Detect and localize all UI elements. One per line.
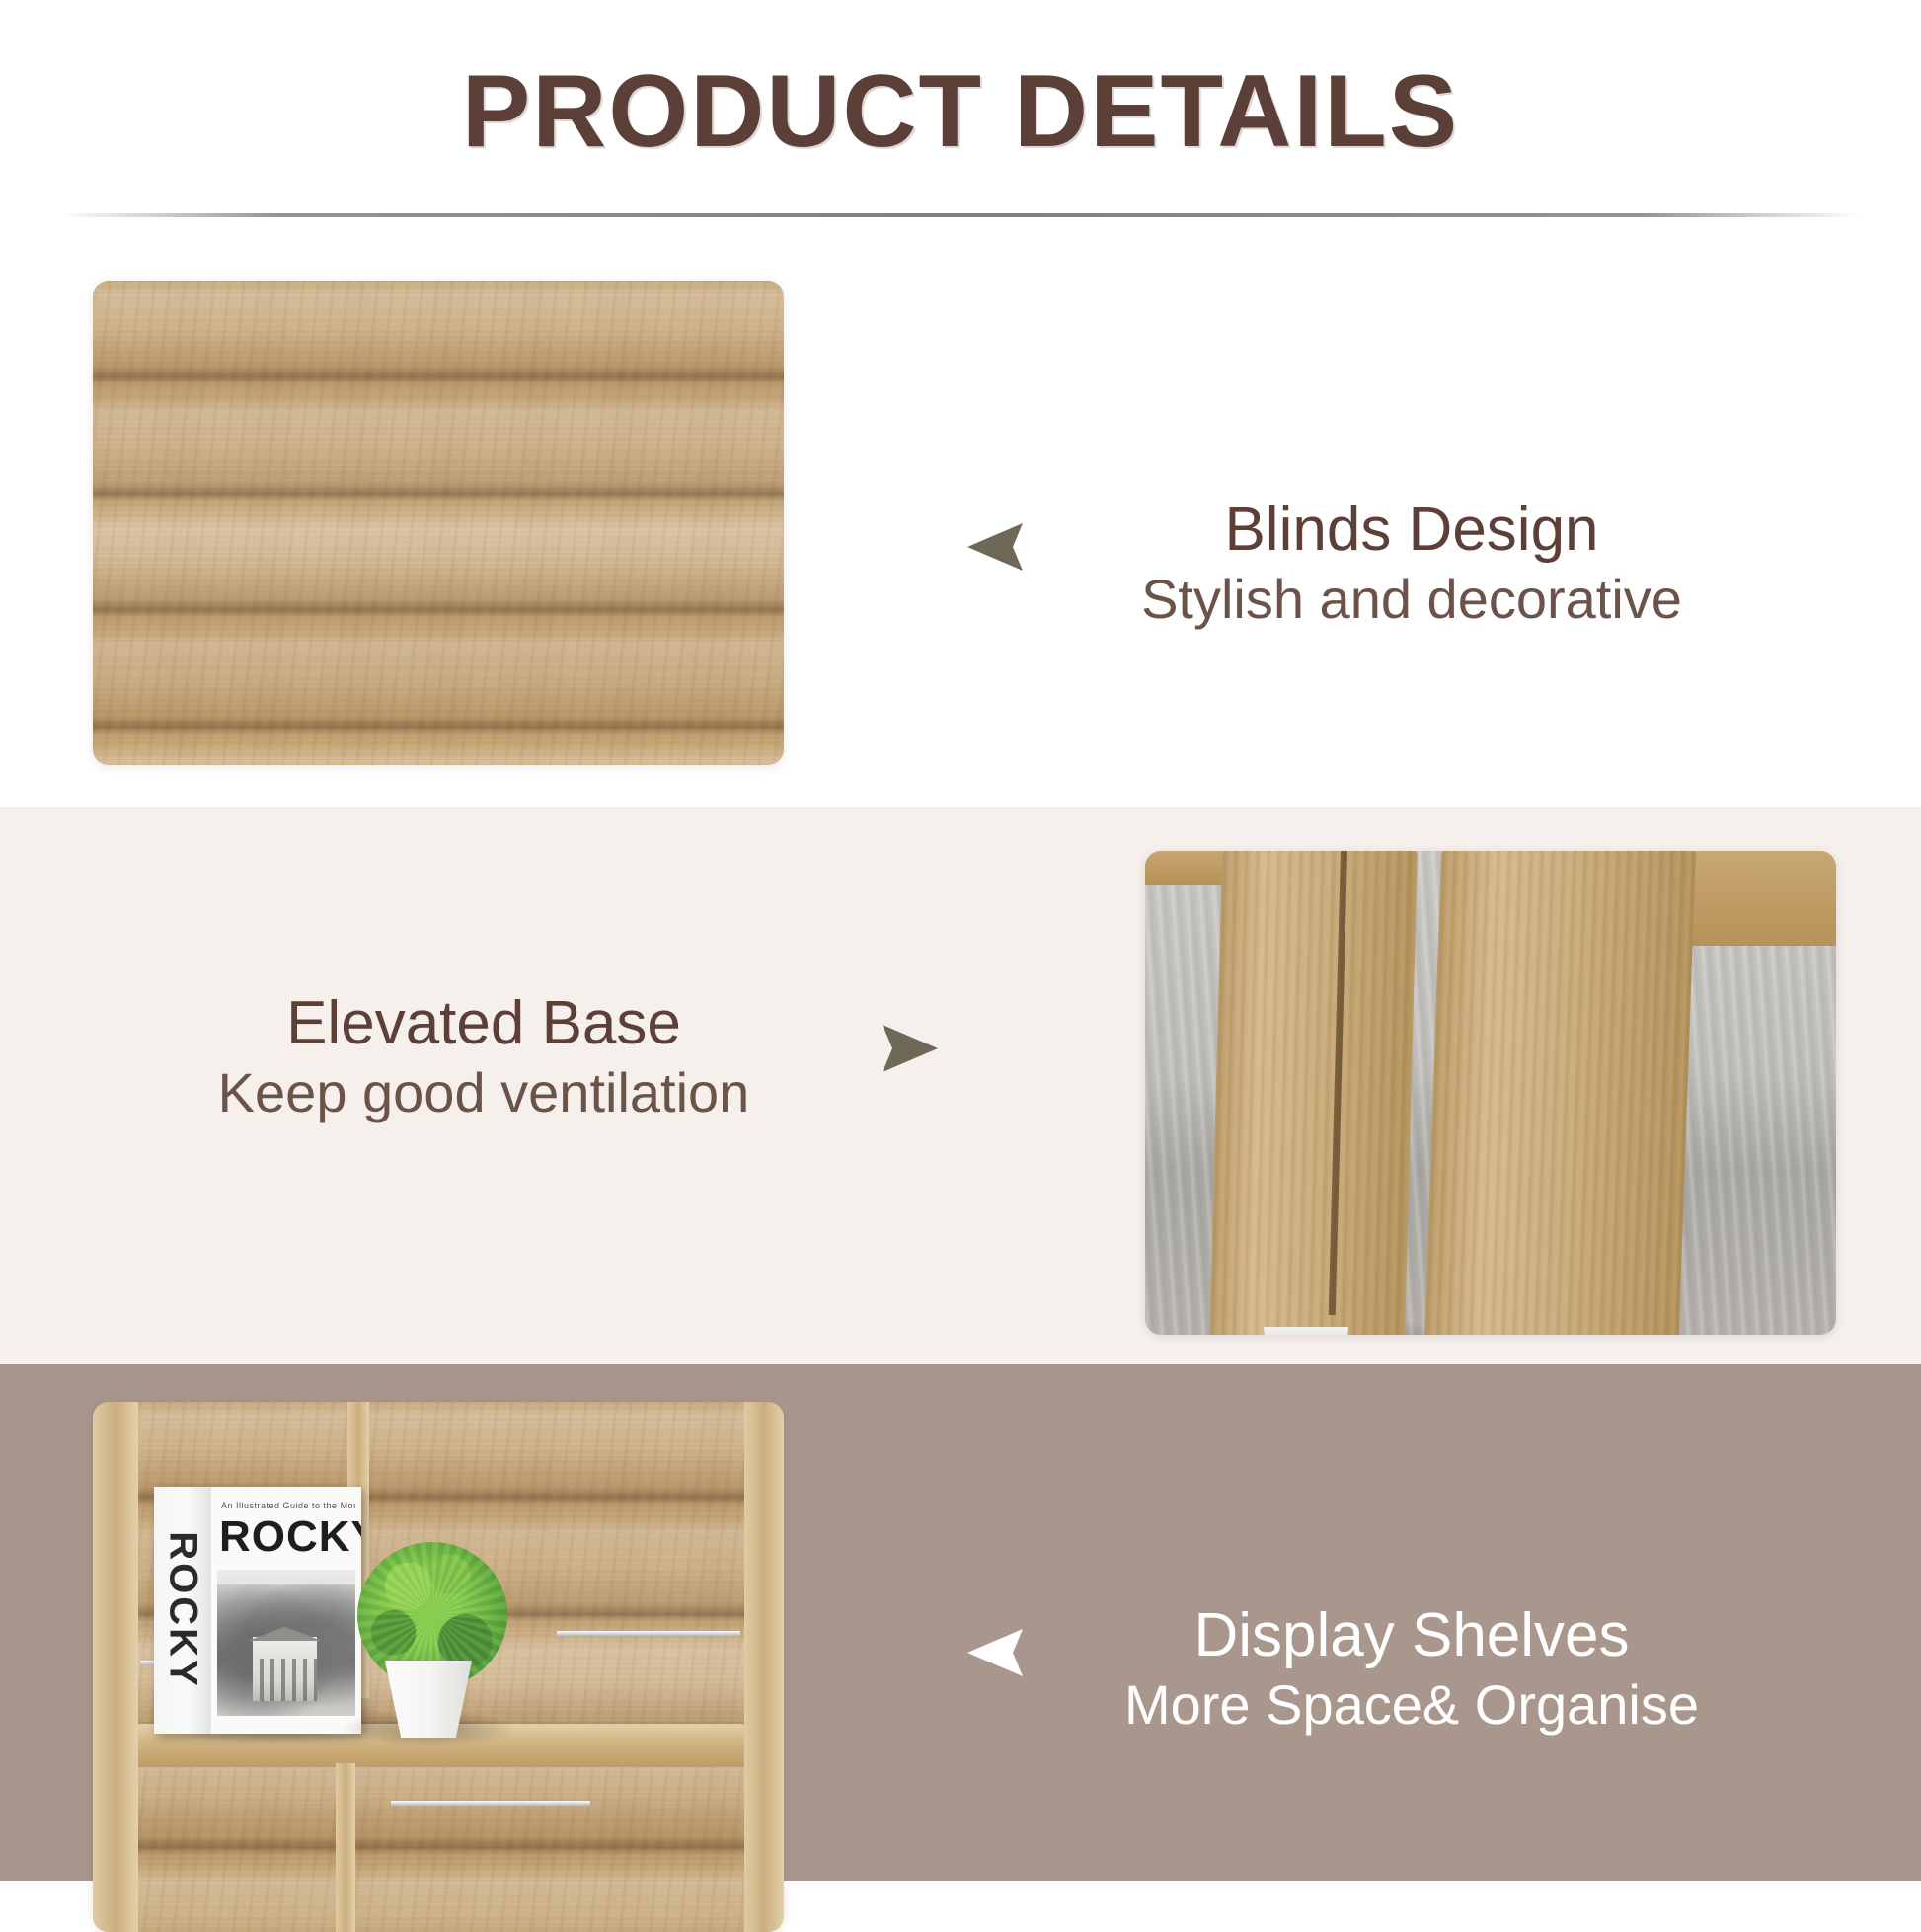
book-cover-title: ROCKY [219, 1512, 357, 1562]
book-cover-columns [253, 1659, 316, 1701]
book-spine: ROCKY [154, 1487, 211, 1734]
callout-elevated-base: Elevated Base Keep good ventilation [39, 987, 928, 1125]
callout-blinds-design: Blinds Design Stylish and decorative [918, 494, 1905, 632]
wood-grain-overlay [93, 281, 784, 765]
callout-title-blinds-design: Blinds Design [918, 494, 1905, 566]
shelf-rail-lower-right [391, 1801, 590, 1806]
furniture-foot-left [1264, 1327, 1348, 1335]
book-spine-title: ROCKY [161, 1531, 205, 1688]
shelf-divider-lower [336, 1763, 355, 1932]
title-divider [59, 213, 1862, 217]
feature-image-elevated-base [1145, 851, 1836, 1335]
shelf-rail-upper-right [557, 1631, 740, 1636]
furniture-leg-right [1423, 851, 1696, 1335]
callout-subtitle-elevated-base: Keep good ventilation [39, 1059, 928, 1125]
feature-image-display-shelves: ROCKY An Illustrated Guide to the Mounta… [93, 1402, 784, 1932]
callout-subtitle-blinds-design: Stylish and decorative [918, 566, 1905, 632]
furniture-leg-left [1209, 851, 1418, 1335]
book-cover-house-illustration [253, 1637, 316, 1701]
decor-book: ROCKY An Illustrated Guide to the Mounta… [154, 1487, 361, 1734]
book-cover: An Illustrated Guide to the Mountains RO… [211, 1487, 361, 1734]
page-title: PRODUCT DETAILS [0, 55, 1921, 168]
callout-subtitle-display-shelves: More Space& Organise [918, 1671, 1905, 1738]
feature-image-blinds-design [93, 281, 784, 765]
shelf-frame-left [93, 1402, 138, 1932]
callout-display-shelves: Display Shelves More Space& Organise [918, 1599, 1905, 1738]
shelf-frame-right [744, 1402, 784, 1932]
image-shelf-scene: ROCKY An Illustrated Guide to the Mounta… [93, 1402, 784, 1932]
image-furniture-legs [1145, 851, 1836, 1335]
callout-title-elevated-base: Elevated Base [39, 987, 928, 1059]
book-cover-kicker: An Illustrated Guide to the Mountains [221, 1501, 355, 1510]
book-cover-photo [217, 1570, 355, 1716]
callout-title-display-shelves: Display Shelves [918, 1599, 1905, 1671]
image-wood-slat-panel [93, 281, 784, 765]
